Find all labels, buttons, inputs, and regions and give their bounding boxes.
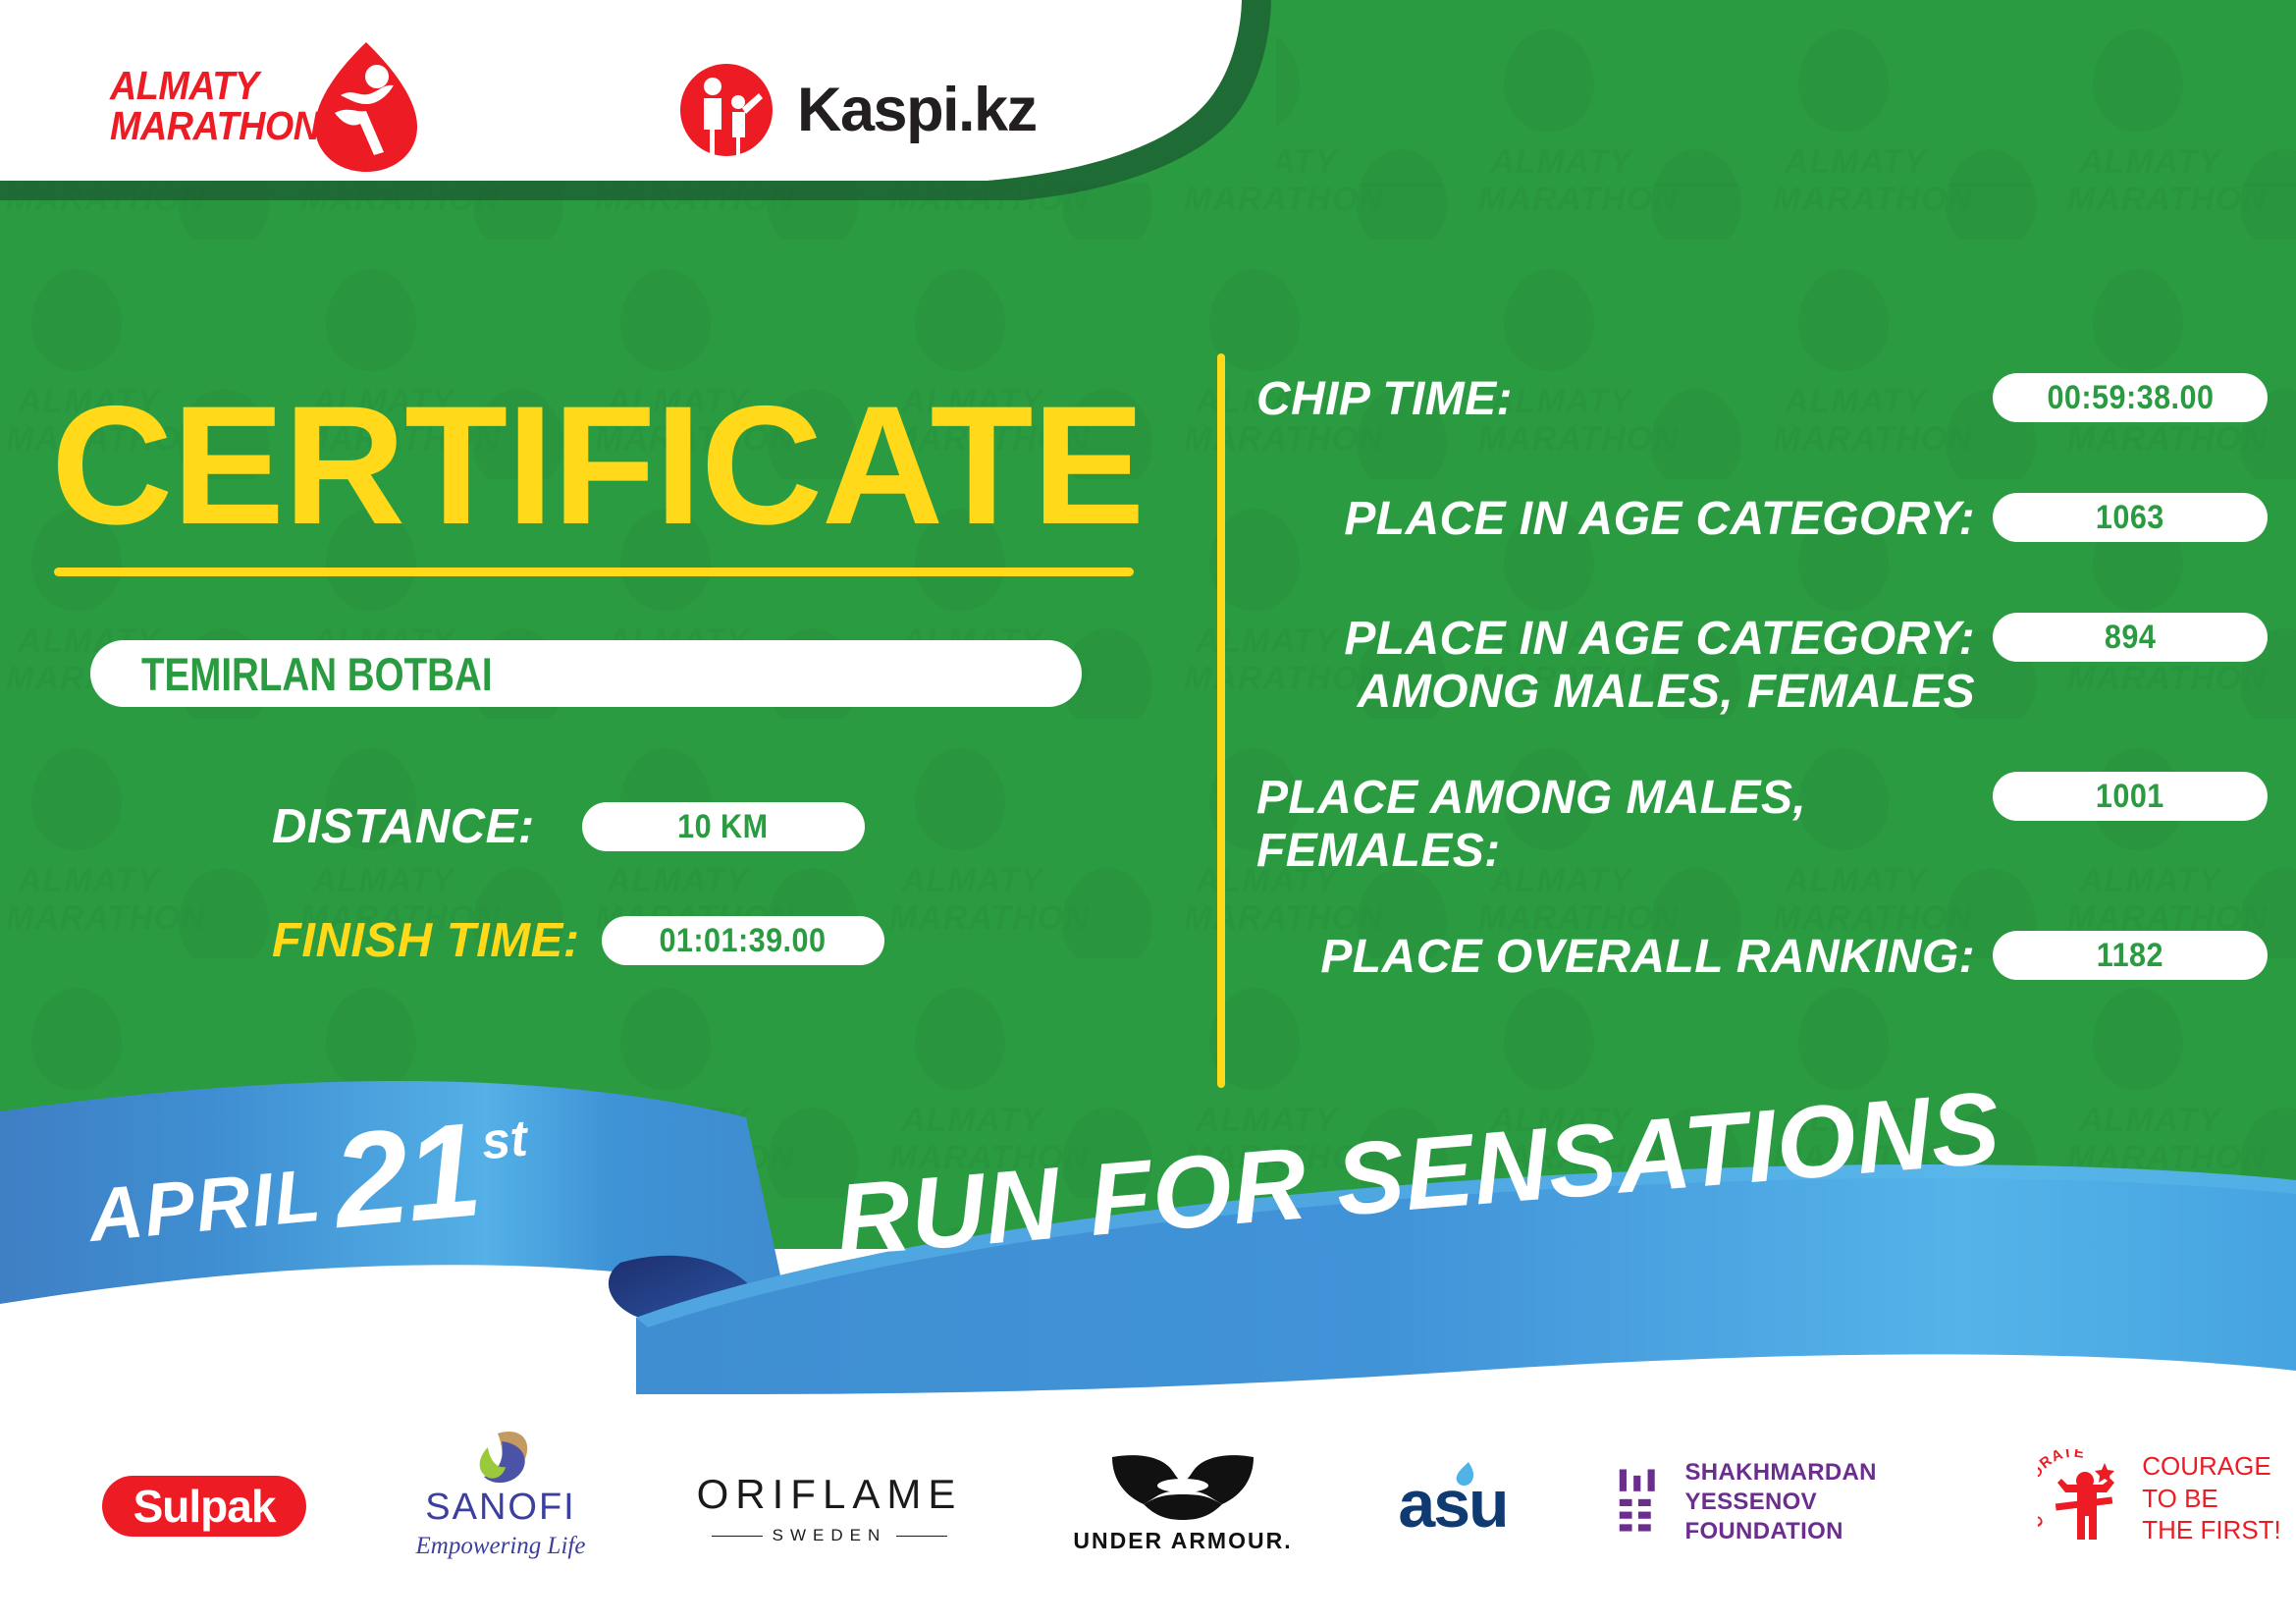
sponsor-bar: Sulpak SANOFI Empowering Life ORIFLAME S… <box>0 1412 2296 1624</box>
result-value: 00:59:38.00 <box>2047 381 2214 414</box>
event-day: 21 <box>329 1111 483 1239</box>
result-value-pill: 1182 <box>1993 931 2268 980</box>
result-row-place-age-category: PLACE IN AGE CATEGORY: 1063 <box>1256 493 2268 546</box>
result-label: PLACE OVERALL RANKING: <box>1256 931 1993 984</box>
sanofi-wordmark: SANOFI <box>425 1487 575 1529</box>
finish-time-label: FINISH TIME: <box>272 917 580 965</box>
sponsor-sanofi: SANOFI Empowering Life <box>388 1426 614 1563</box>
result-label: CHIP TIME: <box>1256 373 1993 426</box>
oriflame-sub: SWEDEN <box>712 1526 948 1545</box>
asu-wordmark: asu <box>1398 1467 1507 1542</box>
sponsor-oriflame: ORIFLAME SWEDEN <box>687 1439 972 1577</box>
almaty-marathon-wordmark: ALMATY MARATHON <box>110 66 352 145</box>
result-value-pill: 1001 <box>1993 772 2268 821</box>
courage-wordmark: COURAGE TO BE THE FIRST! <box>2142 1450 2281 1546</box>
result-value: 1063 <box>2096 501 2164 534</box>
event-day-suffix: st <box>479 1108 529 1168</box>
result-value: 1182 <box>2097 939 2163 972</box>
logo-line-marathon: MARATHON <box>110 106 352 146</box>
finish-time-row: FINISH TIME: 01:01:39.00 <box>272 916 884 965</box>
distance-value: 10 KM <box>677 810 768 843</box>
kaspi-wordmark: Kaspi.kz <box>797 75 1037 145</box>
distance-row: DISTANCE: 10 KM <box>272 802 865 851</box>
sponsor-asu: asu <box>1360 1435 1546 1573</box>
result-value: 1001 <box>2096 780 2164 813</box>
participant-name: TEMIRLAN BOTBAI <box>141 651 493 697</box>
finish-time-value-pill: 01:01:39.00 <box>602 916 884 965</box>
asu-droplet-icon <box>1455 1460 1476 1489</box>
almaty-marathon-logo: ALMATY MARATHON <box>110 41 414 167</box>
sponsor-sulpak: Sulpak <box>96 1437 312 1575</box>
sponsor-under-armour: UNDER ARMOUR. <box>1070 1434 1296 1571</box>
vertical-yellow-divider <box>1217 353 1225 1088</box>
kaspi-people-circle-icon <box>677 61 775 159</box>
under-armour-icon <box>1104 1451 1261 1524</box>
logo-line-almaty: ALMATY <box>110 66 352 106</box>
header-logo-bar: ALMATY MARATHON Kaspi.kz <box>0 0 1266 196</box>
sponsor-yessenov-foundation: SHAKHMARDAN YESSENOV FOUNDATION <box>1615 1434 1949 1571</box>
result-label: PLACE IN AGE CATEGORY: <box>1256 493 1993 546</box>
result-row-place-age-category-among-gender: PLACE IN AGE CATEGORY: AMONG MALES, FEMA… <box>1256 613 2268 719</box>
under-armour-wordmark: UNDER ARMOUR. <box>1073 1528 1292 1554</box>
result-label: PLACE IN AGE CATEGORY: AMONG MALES, FEMA… <box>1256 613 1993 719</box>
result-value-pill: 1063 <box>1993 493 2268 542</box>
sulpak-logo: Sulpak <box>102 1476 306 1537</box>
oriflame-rule-left <box>712 1536 763 1537</box>
oriflame-country: SWEDEN <box>773 1526 887 1545</box>
oriflame-rule-right <box>896 1536 947 1537</box>
certificate-title: CERTIFICATE <box>51 381 1144 550</box>
result-row-place-among-gender: PLACE AMONG MALES, FEMALES: 1001 <box>1256 772 2268 878</box>
result-value: 894 <box>2105 621 2156 654</box>
yessenov-foundation-icon <box>1615 1457 1664 1547</box>
distance-value-pill: 10 KM <box>582 802 865 851</box>
result-label: PLACE AMONG MALES, FEMALES: <box>1256 772 1993 878</box>
result-value-pill: 00:59:38.00 <box>1993 373 2268 422</box>
title-underline <box>54 568 1134 576</box>
distance-label: DISTANCE: <box>272 803 535 851</box>
kaspi-logo: Kaspi.kz <box>677 61 1037 159</box>
participant-name-field: TEMIRLAN BOTBAI <box>90 640 1082 707</box>
finish-time-value: 01:01:39.00 <box>660 924 827 957</box>
certificate-canvas: ALMATY MARATHON ALMATY MARATHON <box>0 0 2296 1624</box>
result-value-pill: 894 <box>1993 613 2268 662</box>
oriflame-wordmark: ORIFLAME <box>697 1471 963 1518</box>
result-row-chip-time: CHIP TIME: 00:59:38.00 <box>1256 373 2268 426</box>
sponsor-courage-to-be-the-first: CORPORATE FUND COURAGE TO BE THE FIRST! <box>2037 1430 2282 1567</box>
courage-to-be-the-first-icon: CORPORATE FUND <box>2038 1449 2128 1547</box>
sulpak-wordmark: Sulpak <box>133 1480 276 1533</box>
yessenov-wordmark: SHAKHMARDAN YESSENOV FOUNDATION <box>1685 1458 1949 1546</box>
sanofi-mark-icon <box>458 1430 543 1487</box>
result-row-place-overall: PLACE OVERALL RANKING: 1182 <box>1256 931 2268 984</box>
sanofi-tagline: Empowering Life <box>416 1533 586 1560</box>
